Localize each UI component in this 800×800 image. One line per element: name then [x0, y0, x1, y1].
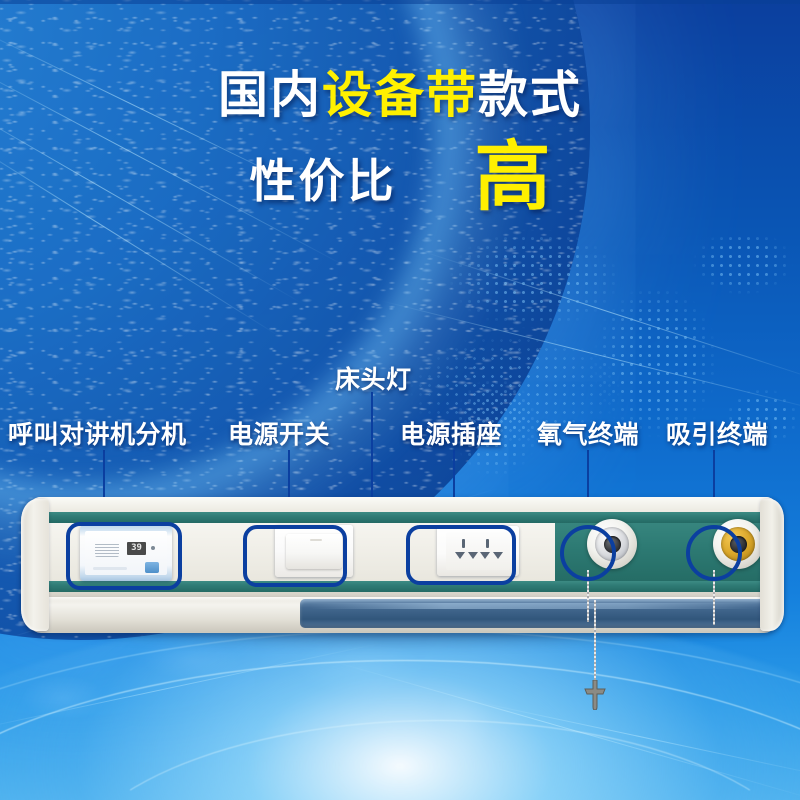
callout-label-intercom: 呼叫对讲机分机 [8, 415, 187, 451]
callout-label-oxygen: 氧气终端 [537, 415, 639, 451]
highlight-circle-oxygen [560, 525, 616, 581]
panel-top-edge [25, 497, 780, 510]
highlight-box-intercom [66, 522, 182, 590]
callout-label-layer: 呼叫对讲机分机 电源开关 床头灯 电源插座 氧气终端 吸引终端 [0, 0, 800, 800]
pull-cord-hook-icon[interactable] [583, 680, 607, 715]
highlight-box-power-switch [243, 525, 347, 587]
poster-stage: 国内设备带款式 性价比 高 呼叫对讲机分机 电源开关 床头灯 电源插座 氧气终端… [0, 0, 800, 800]
bed-lamp-pull-cord [594, 600, 596, 690]
rail-highlight [310, 603, 760, 609]
callout-label-power-switch: 电源开关 [228, 415, 330, 451]
highlight-box-power-socket [406, 525, 516, 585]
panel-end-cap-right [760, 499, 784, 631]
callout-label-power-socket: 电源插座 [400, 415, 502, 451]
callout-label-suction: 吸引终端 [666, 415, 768, 451]
callout-label-bed-lamp: 床头灯 [335, 360, 412, 396]
highlight-circle-suction [686, 525, 742, 581]
panel-end-cap-left [21, 499, 49, 631]
